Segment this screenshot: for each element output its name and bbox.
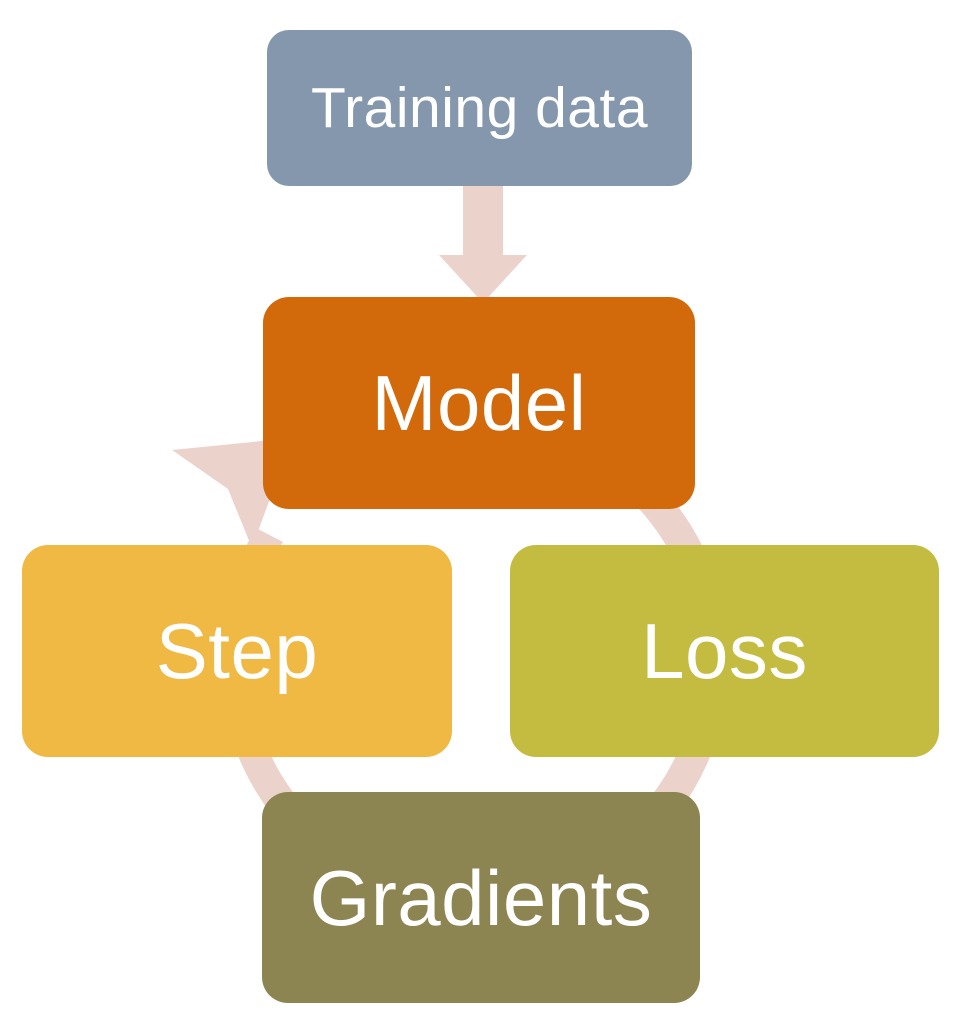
node-gradients-label: Gradients <box>310 859 653 937</box>
node-model-label: Model <box>372 364 587 442</box>
node-model[interactable]: Model <box>263 297 695 509</box>
node-step[interactable]: Step <box>22 545 452 757</box>
node-training-data[interactable]: Training data <box>267 30 692 186</box>
node-gradients[interactable]: Gradients <box>262 792 700 1003</box>
feed-arrow <box>439 186 527 303</box>
node-training-data-label: Training data <box>311 80 648 137</box>
diagram-canvas: Training data Model Step Loss Gradients <box>0 0 969 1028</box>
node-step-label: Step <box>156 612 318 690</box>
node-loss-label: Loss <box>641 612 808 690</box>
node-loss[interactable]: Loss <box>510 545 939 757</box>
